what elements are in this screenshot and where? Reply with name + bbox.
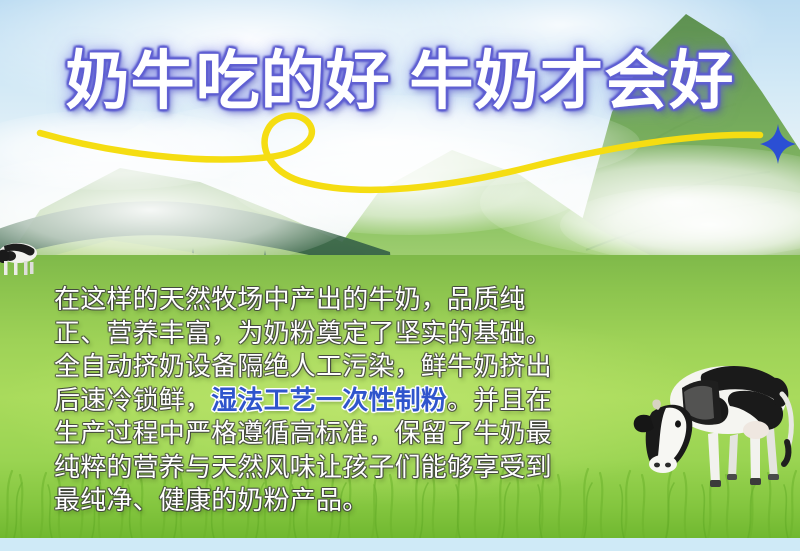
body-paragraph: 在这样的天然牧场中产出的牛奶，品质纯正、营养丰富，为奶粉奠定了坚实的基础。全自动… — [54, 283, 562, 518]
sparkle-star — [758, 122, 798, 166]
headline-container: 奶牛吃的好 牛奶才会好 — [0, 48, 800, 115]
distant-holstein-cow — [0, 238, 40, 278]
page-title: 奶牛吃的好 牛奶才会好 — [66, 48, 735, 115]
grazing-holstein-cow — [610, 338, 800, 498]
bottom-color-band — [0, 538, 800, 551]
dairy-promo-poster: 奶牛吃的好 牛奶才会好 在这样的天然牧场中产出的牛奶，品质纯正、营养丰富，为奶粉… — [0, 0, 800, 551]
body-text-highlight: 湿法工艺一次性制粉 — [211, 385, 447, 415]
